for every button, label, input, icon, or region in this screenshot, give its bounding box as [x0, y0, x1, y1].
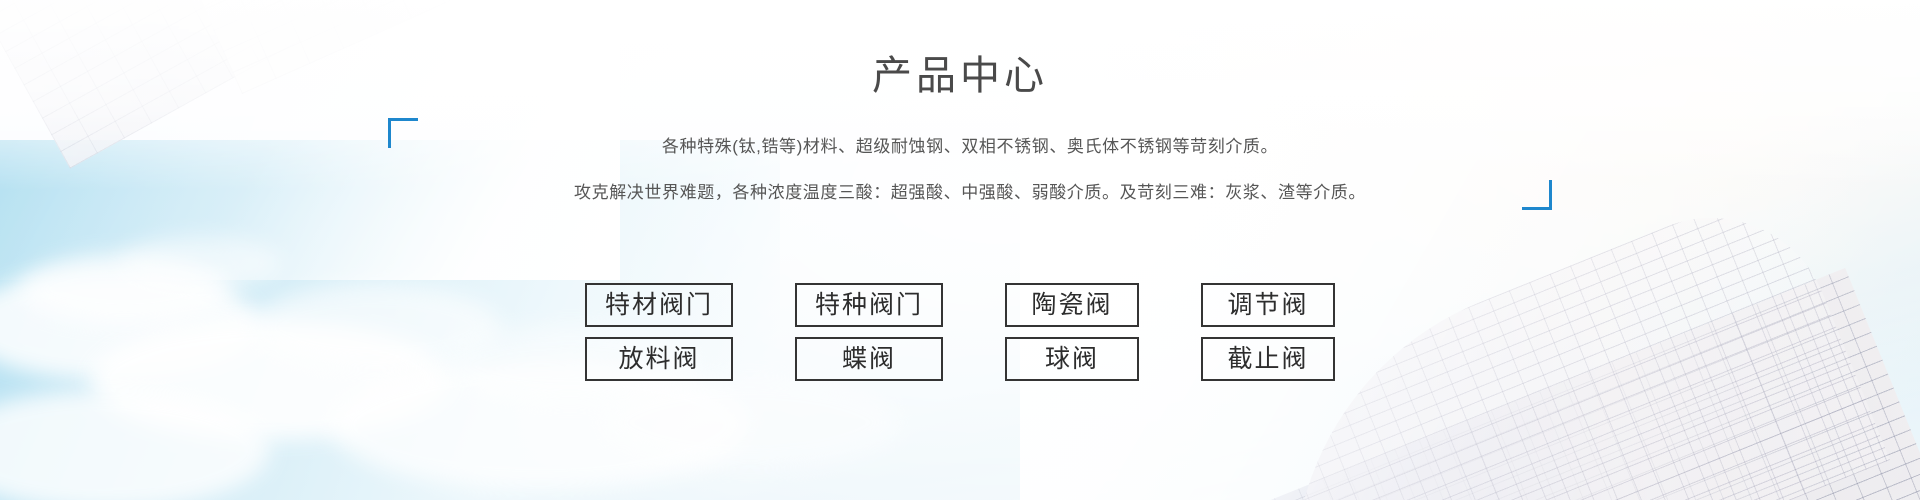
product-category-grid: 特材阀门 特种阀门 陶瓷阀 调节阀 放料阀 蝶阀 球阀 截止阀	[0, 283, 1920, 381]
description-quote-block: 各种特殊(钛,锆等)材料、超级耐蚀钢、双相不锈钢、奥氏体不锈钢等苛刻介质。 攻克…	[388, 118, 1552, 210]
category-button-taoci-fa[interactable]: 陶瓷阀	[1005, 283, 1139, 327]
category-button-fangliao-fa[interactable]: 放料阀	[585, 337, 733, 381]
product-category-row-1: 特材阀门 特种阀门 陶瓷阀 调节阀	[585, 283, 1335, 327]
category-button-tiaojie-fa[interactable]: 调节阀	[1201, 283, 1335, 327]
category-button-qiu-fa[interactable]: 球阀	[1005, 337, 1139, 381]
category-button-die-fa[interactable]: 蝶阀	[795, 337, 943, 381]
category-button-techai-famen[interactable]: 特材阀门	[585, 283, 733, 327]
page-title: 产品中心	[0, 56, 1920, 96]
banner-content: 产品中心 各种特殊(钛,锆等)材料、超级耐蚀钢、双相不锈钢、奥氏体不锈钢等苛刻介…	[0, 0, 1920, 500]
product-center-banner: 产品中心 各种特殊(钛,锆等)材料、超级耐蚀钢、双相不锈钢、奥氏体不锈钢等苛刻介…	[0, 0, 1920, 500]
description-line-2: 攻克解决世界难题，各种浓度温度三酸：超强酸、中强酸、弱酸介质。及苛刻三难：灰浆、…	[388, 184, 1552, 201]
description-line-1: 各种特殊(钛,锆等)材料、超级耐蚀钢、双相不锈钢、奥氏体不锈钢等苛刻介质。	[388, 138, 1552, 155]
product-category-row-2: 放料阀 蝶阀 球阀 截止阀	[585, 337, 1335, 381]
category-button-tezhong-famen[interactable]: 特种阀门	[795, 283, 943, 327]
category-button-jiezhi-fa[interactable]: 截止阀	[1201, 337, 1335, 381]
